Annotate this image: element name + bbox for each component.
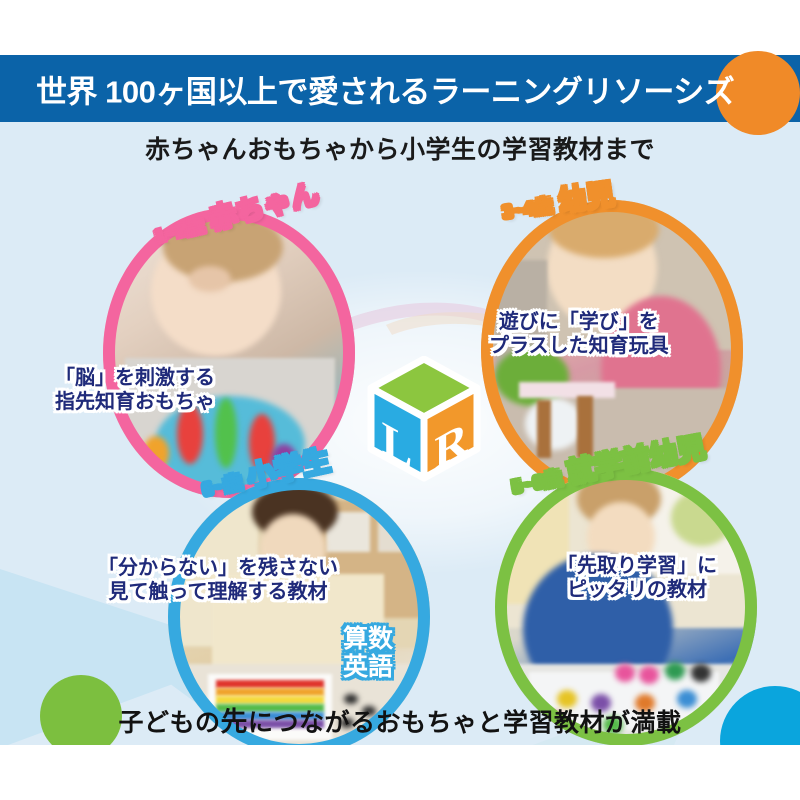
caption-line-2: プラスした知育玩具 bbox=[489, 334, 669, 358]
subject-tag-english: 英語 bbox=[343, 654, 393, 682]
banner-title: 世界 100ヶ国以上で愛されるラーニングリソーシズ bbox=[36, 66, 734, 111]
segment-caption-baby: 「脳」を刺激する 指先知育おもちゃ bbox=[55, 366, 215, 415]
promo-banner-canvas: 1~2歳赤ちゃん 「脳」を刺激する 指先知育おもちゃ 3~4歳幼児 遊びに「学び… bbox=[0, 0, 800, 800]
caption-line-2: 指先知育おもちゃ bbox=[55, 390, 215, 414]
tagline-before: 子どもの bbox=[118, 709, 220, 737]
subject-tag-math: 算数 bbox=[343, 626, 393, 654]
tagline-emphasis: 先 bbox=[221, 707, 249, 737]
tagline-after: につながるおもちゃと学習教材が満載 bbox=[248, 709, 682, 737]
subject-tags: 算数 英語 bbox=[343, 626, 393, 681]
caption-line-2: ピッタリの教材 bbox=[557, 578, 717, 602]
segment-caption-elementary: 「分からない」を残さない 見て触って理解する教材 bbox=[98, 556, 338, 605]
bottom-white-strip bbox=[0, 745, 800, 800]
caption-line-2: 見て触って理解する教材 bbox=[98, 580, 338, 604]
segment-caption-preschool: 「先取り学習」に ピッタリの教材 bbox=[557, 554, 717, 603]
caption-line-1: 遊びに「学び」を bbox=[489, 310, 669, 334]
subtitle: 赤ちゃんおもちゃから小学生の学習教材まで bbox=[0, 130, 800, 166]
tagline: 子どもの先につながるおもちゃと学習教材が満載 bbox=[0, 700, 800, 739]
caption-line-1: 「先取り学習」に bbox=[557, 554, 717, 578]
lr-cube-logo[interactable]: L R bbox=[366, 356, 482, 482]
cube-icon: L R bbox=[366, 356, 482, 482]
header-banner: 世界 100ヶ国以上で愛されるラーニングリソーシズ bbox=[0, 55, 800, 122]
caption-line-1: 「脳」を刺激する bbox=[55, 366, 215, 390]
caption-line-1: 「分からない」を残さない bbox=[98, 556, 338, 580]
segment-caption-toddler: 遊びに「学び」を プラスした知育玩具 bbox=[489, 310, 669, 359]
